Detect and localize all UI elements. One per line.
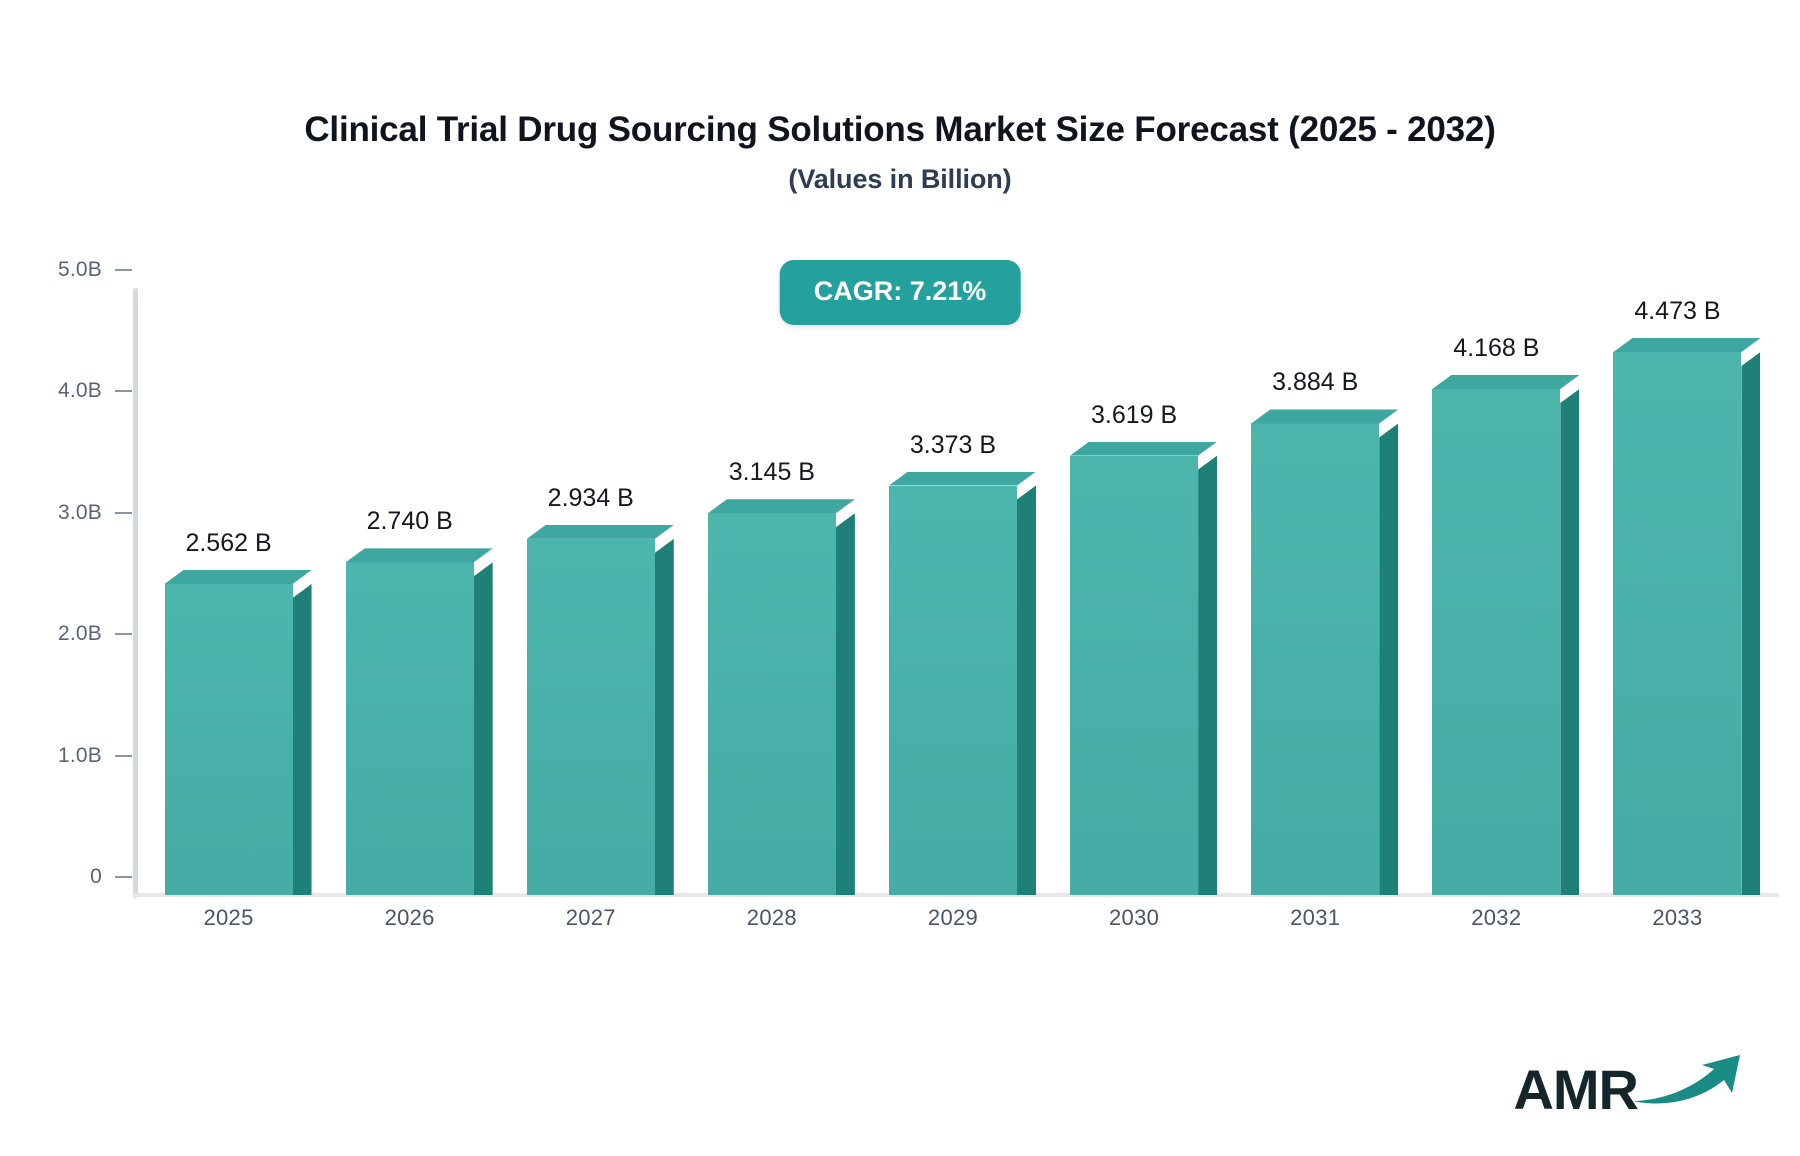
y-axis-tick-label: 1.0B	[58, 744, 102, 768]
bar-top-face	[889, 472, 1036, 487]
plot-area: 5.0B4.0B3.0B2.0B1.0B0 2.562 B2.740 B2.93…	[0, 0, 1800, 1156]
bar-group[interactable]: 2.562 B	[138, 288, 319, 895]
y-axis-tick-mark	[115, 269, 132, 271]
x-axis-tick-label: 2025	[138, 905, 319, 931]
bar-group[interactable]: 3.619 B	[1044, 288, 1225, 895]
bar[interactable]	[1251, 423, 1379, 895]
y-axis-tick-mark	[115, 755, 132, 757]
logo-text: AMR	[1513, 1062, 1638, 1118]
bar-value-label: 3.884 B	[1225, 368, 1406, 397]
y-axis-tick-mark	[115, 390, 132, 392]
bar-group[interactable]: 3.884 B	[1225, 288, 1406, 895]
x-axis-tick-label: 2028	[681, 905, 862, 931]
bar-top-face	[1251, 409, 1398, 424]
bar-top-face	[708, 499, 855, 514]
bar-side-face	[836, 513, 855, 895]
bar-top-face	[346, 548, 493, 563]
bar-side-face	[474, 562, 493, 895]
y-axis: 5.0B4.0B3.0B2.0B1.0B0	[22, 270, 132, 900]
x-axis-tick-label: 2029	[862, 905, 1043, 931]
y-axis-tick-mark	[115, 633, 132, 635]
x-axis: 202520262027202820292030203120322033	[138, 905, 1768, 931]
bar-front-face	[165, 584, 293, 895]
bar-value-label: 2.562 B	[138, 529, 319, 558]
chart-canvas: Clinical Trial Drug Sourcing Solutions M…	[0, 0, 1800, 1156]
y-axis-tick-mark	[115, 512, 132, 514]
bar-top-face	[1432, 375, 1579, 390]
bar-group[interactable]: 2.934 B	[500, 288, 681, 895]
bar[interactable]	[1070, 456, 1198, 895]
bar-top-face	[1070, 442, 1217, 457]
bar-side-face	[655, 539, 674, 895]
bar-value-label: 3.619 B	[1044, 401, 1225, 430]
bar-front-face	[1251, 423, 1379, 895]
x-axis-tick-label: 2033	[1587, 905, 1768, 931]
bar-value-label: 2.740 B	[319, 507, 500, 536]
bar-front-face	[889, 486, 1017, 895]
bar[interactable]	[346, 562, 474, 895]
bar-side-face	[1017, 486, 1036, 895]
bar-series: 2.562 B2.740 B2.934 B3.145 B3.373 B3.619…	[138, 288, 1768, 895]
growth-arrow-icon	[1628, 1051, 1748, 1112]
bar-side-face	[1379, 423, 1398, 895]
bar-top-face	[165, 570, 312, 585]
y-axis-tick-label: 2.0B	[58, 622, 102, 646]
bar-group[interactable]: 4.168 B	[1406, 288, 1587, 895]
bar-side-face	[1198, 456, 1217, 895]
bar-group[interactable]: 3.373 B	[862, 288, 1043, 895]
y-axis-tick: 2.0B	[58, 624, 132, 644]
amr-logo: AMR	[1513, 1051, 1748, 1118]
bar-front-face	[1613, 352, 1741, 895]
y-axis-tick-label: 3.0B	[58, 501, 102, 525]
y-axis-tick: 1.0B	[58, 746, 132, 766]
x-axis-tick-label: 2027	[500, 905, 681, 931]
bar-front-face	[346, 562, 474, 895]
bar-value-label: 4.473 B	[1587, 297, 1768, 326]
x-axis-tick-label: 2031	[1225, 905, 1406, 931]
bar-value-label: 4.168 B	[1406, 334, 1587, 363]
y-axis-tick: 0	[90, 867, 132, 887]
bar-side-face	[1560, 389, 1579, 895]
bar[interactable]	[708, 513, 836, 895]
bar-top-face	[527, 525, 674, 540]
bar[interactable]	[165, 584, 293, 895]
bar-front-face	[1070, 456, 1198, 895]
bar-front-face	[708, 513, 836, 895]
bar-top-face	[1613, 338, 1760, 353]
bar-value-label: 3.145 B	[681, 458, 862, 487]
bar[interactable]	[889, 486, 1017, 895]
bar-group[interactable]: 3.145 B	[681, 288, 862, 895]
x-axis-tick-label: 2030	[1044, 905, 1225, 931]
y-axis-tick-label: 5.0B	[58, 258, 102, 282]
x-axis-tick-label: 2032	[1406, 905, 1587, 931]
bar-side-face	[1741, 352, 1760, 895]
x-axis-tick-label: 2026	[319, 905, 500, 931]
y-axis-tick-label: 4.0B	[58, 379, 102, 403]
bar[interactable]	[1432, 389, 1560, 895]
y-axis-tick-label: 0	[90, 865, 102, 889]
y-axis-tick: 3.0B	[58, 503, 132, 523]
bar-value-label: 3.373 B	[862, 431, 1043, 460]
y-axis-tick: 4.0B	[58, 381, 132, 401]
bar-group[interactable]: 2.740 B	[319, 288, 500, 895]
bar-front-face	[527, 539, 655, 895]
y-axis-tick-mark	[115, 876, 132, 878]
bar-group[interactable]: 4.473 B	[1587, 288, 1768, 895]
bar-value-label: 2.934 B	[500, 484, 681, 513]
bar[interactable]	[527, 539, 655, 895]
y-axis-tick: 5.0B	[58, 260, 132, 280]
bar-front-face	[1432, 389, 1560, 895]
bar[interactable]	[1613, 352, 1741, 895]
bar-side-face	[293, 584, 312, 895]
